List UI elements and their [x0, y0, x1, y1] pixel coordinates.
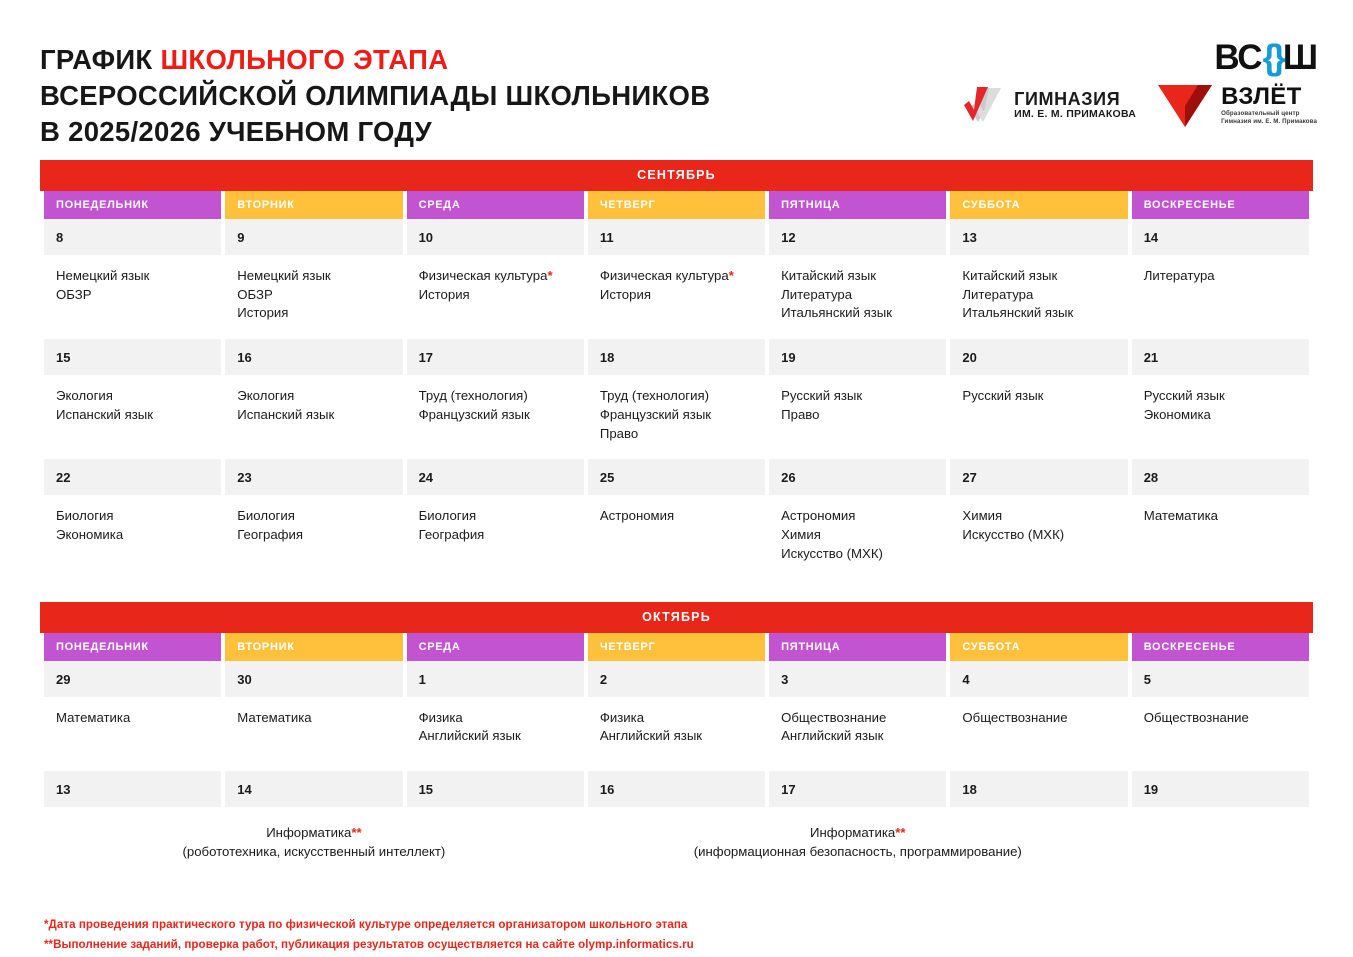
month-block-сентябрь: СЕНТЯБРЬПОНЕДЕЛЬНИКВТОРНИКСРЕДАЧЕТВЕРГПЯ… — [40, 160, 1313, 580]
date-row: 15161718192021 — [44, 339, 1309, 375]
weekday-header-0: ПОНЕДЕЛЬНИК — [44, 633, 221, 661]
checkmark-icon — [963, 85, 1005, 125]
subject-cell: Физическая культура*История — [588, 255, 765, 339]
day-number-cell: 24 — [407, 459, 584, 495]
subject-item: Французский язык — [600, 406, 753, 425]
subject-cell: Физическая культура*История — [407, 255, 584, 339]
gymnasium-logo: ГИМНАЗИЯ ИМ. Е. М. ПРИМАКОВА — [963, 85, 1136, 125]
day-number-cell: 16 — [225, 339, 402, 375]
weekday-header-6: ВОСКРЕСЕНЬЕ — [1132, 191, 1309, 219]
title-block: ГРАФИК ШКОЛЬНОГО ЭТАПА ВСЕРОССИЙСКОЙ ОЛИ… — [40, 38, 710, 149]
subject-cell: Труд (технология)Французский язык — [407, 375, 584, 459]
subject-item: Испанский язык — [237, 406, 390, 425]
subject-cell: Математика — [44, 697, 221, 771]
subject-row: БиологияЭкономикаБиологияГеографияБиолог… — [44, 495, 1309, 579]
subject-item: Право — [781, 406, 934, 425]
subject-detail: (робототехника, искусственный интеллект) — [56, 842, 572, 862]
subject-cell: ФизикаАнглийский язык — [588, 697, 765, 771]
empty-cell — [1132, 807, 1309, 881]
subject-cell: ОбществознаниеАнглийский язык — [769, 697, 946, 771]
subject-cell: Немецкий языкОБЗРИстория — [225, 255, 402, 339]
day-number-cell: 15 — [44, 339, 221, 375]
subject-item: Труд (технология) — [600, 387, 753, 406]
page-title-line-3: В 2025/2026 УЧЕБНОМ ГОДУ — [40, 114, 710, 150]
day-number-cell: 18 — [950, 771, 1127, 807]
subject-cell: Литература — [1132, 255, 1309, 339]
subject-cell: Китайский языкЛитератураИтальянский язык — [769, 255, 946, 339]
footnote-marker: ** — [351, 825, 361, 840]
title-plain: ГРАФИК — [40, 44, 160, 75]
day-number-cell: 9 — [225, 219, 402, 255]
subject-cell: Астрономия — [588, 495, 765, 579]
subject-item: Астрономия — [600, 507, 753, 526]
partner-logo-row: ГИМНАЗИЯ ИМ. Е. М. ПРИМАКОВА ВЗЛЁТ Образ… — [963, 83, 1317, 127]
subject-item: ОБЗР — [237, 286, 390, 305]
day-number-cell: 30 — [225, 661, 402, 697]
subject-item: Экономика — [1144, 406, 1297, 425]
subject-item: Обществознание — [1144, 709, 1297, 728]
subject-item: Экономика — [56, 526, 209, 545]
vsosh-logo-part1: ВС — [1214, 40, 1261, 75]
subject-item: Химия — [781, 526, 934, 545]
subject-item: Китайский язык — [781, 267, 934, 286]
merged-subject-cell: Информатика**(робототехника, искусственн… — [44, 807, 584, 881]
weekday-header-1: ВТОРНИК — [225, 633, 402, 661]
day-number-cell: 4 — [950, 661, 1127, 697]
subject-cell: ЭкологияИспанский язык — [44, 375, 221, 459]
day-number-cell: 12 — [769, 219, 946, 255]
gymnasium-logo-name: ГИМНАЗИЯ — [1014, 90, 1136, 109]
date-row: 22232425262728 — [44, 459, 1309, 495]
weekday-header-4: ПЯТНИЦА — [769, 633, 946, 661]
subject-title: Информатика** — [600, 823, 1116, 843]
subject-item: Астрономия — [781, 507, 934, 526]
subject-row: ЭкологияИспанский языкЭкологияИспанский … — [44, 375, 1309, 459]
subject-cell: БиологияЭкономика — [44, 495, 221, 579]
subject-item: Биология — [419, 507, 572, 526]
vzlyot-v-icon — [1158, 83, 1212, 127]
subject-item: Экология — [237, 387, 390, 406]
day-number-cell: 28 — [1132, 459, 1309, 495]
subject-item: ОБЗР — [56, 286, 209, 305]
day-number-cell: 26 — [769, 459, 946, 495]
subject-cell: ХимияИскусство (МХК) — [950, 495, 1127, 579]
subject-item: История — [600, 286, 753, 305]
subject-item: Биология — [237, 507, 390, 526]
subject-item: Испанский язык — [56, 406, 209, 425]
date-row: 13141516171819 — [44, 771, 1309, 807]
month-title: СЕНТЯБРЬ — [40, 160, 1313, 191]
subject-item: Математика — [56, 709, 209, 728]
footnote-marker: * — [547, 268, 552, 283]
vsosh-logo-brace-icon: {} — [1262, 40, 1283, 75]
subject-cell: БиологияГеография — [407, 495, 584, 579]
date-row: 293012345 — [44, 661, 1309, 697]
subject-item: Математика — [237, 709, 390, 728]
subject-item: География — [419, 526, 572, 545]
day-number-cell: 17 — [769, 771, 946, 807]
subject-item: Физическая культура* — [419, 267, 572, 286]
day-number-cell: 16 — [588, 771, 765, 807]
subject-item: Английский язык — [419, 727, 572, 746]
day-number-cell: 17 — [407, 339, 584, 375]
subject-item: Русский язык — [781, 387, 934, 406]
gymnasium-logo-subtitle: ИМ. Е. М. ПРИМАКОВА — [1014, 109, 1136, 120]
vzlyot-logo-subtitle-2: Гимназия им. Е. М. Примакова — [1221, 118, 1317, 126]
day-number-cell: 14 — [225, 771, 402, 807]
vsosh-logo-row: ВС{}Ш — [963, 40, 1317, 75]
day-number-cell: 29 — [44, 661, 221, 697]
subject-item: Немецкий язык — [56, 267, 209, 286]
day-number-cell: 11 — [588, 219, 765, 255]
subject-item: Итальянский язык — [781, 304, 934, 323]
subject-item: Труд (технология) — [419, 387, 572, 406]
subject-cell: АстрономияХимияИскусство (МХК) — [769, 495, 946, 579]
footnote-2: **Выполнение заданий, проверка работ, пу… — [44, 935, 1313, 955]
subject-cell: Русский язык — [950, 375, 1127, 459]
month-title: ОКТЯБРЬ — [40, 602, 1313, 633]
weekday-header-6: ВОСКРЕСЕНЬЕ — [1132, 633, 1309, 661]
month-block-октябрь: ОКТЯБРЬПОНЕДЕЛЬНИКВТОРНИКСРЕДАЧЕТВЕРГПЯТ… — [40, 602, 1313, 881]
title-accent: ШКОЛЬНОГО ЭТАПА — [160, 44, 448, 75]
page-title-line-2: ВСЕРОССИЙСКОЙ ОЛИМПИАДЫ ШКОЛЬНИКОВ — [40, 78, 710, 114]
subject-item: Итальянский язык — [962, 304, 1115, 323]
weekday-header-4: ПЯТНИЦА — [769, 191, 946, 219]
vsosh-logo-part2: Ш — [1283, 40, 1317, 75]
subject-item: Литература — [781, 286, 934, 305]
subject-cell: Математика — [225, 697, 402, 771]
subject-item: Французский язык — [419, 406, 572, 425]
weekday-header-5: СУББОТА — [950, 633, 1127, 661]
subject-cell: БиологияГеография — [225, 495, 402, 579]
footnote-marker: ** — [895, 825, 905, 840]
footnote-1: *Дата проведения практического тура по ф… — [44, 915, 1313, 935]
vzlyot-logo-subtitle-1: Образовательный центр — [1221, 110, 1317, 118]
vzlyot-logo-name: ВЗЛЁТ — [1221, 84, 1317, 109]
subject-item: Биология — [56, 507, 209, 526]
weekday-header-0: ПОНЕДЕЛЬНИК — [44, 191, 221, 219]
vsosh-logo: ВС{}Ш — [1214, 40, 1317, 75]
subject-item: Русский язык — [1144, 387, 1297, 406]
subject-item: Химия — [962, 507, 1115, 526]
subject-title: Информатика** — [56, 823, 572, 843]
day-number-cell: 10 — [407, 219, 584, 255]
subject-cell: Русский языкЭкономика — [1132, 375, 1309, 459]
subject-cell: Немецкий языкОБЗР — [44, 255, 221, 339]
subject-item: Обществознание — [781, 709, 934, 728]
weekday-header-5: СУББОТА — [950, 191, 1127, 219]
subject-cell: Обществознание — [950, 697, 1127, 771]
subject-item: Право — [600, 425, 753, 444]
subject-item: Экология — [56, 387, 209, 406]
weekday-header-2: СРЕДА — [407, 191, 584, 219]
subject-item: Литература — [962, 286, 1115, 305]
date-row: 891011121314 — [44, 219, 1309, 255]
subject-cell: Русский языкПраво — [769, 375, 946, 459]
subject-item: Математика — [1144, 507, 1297, 526]
day-number-cell: 19 — [769, 339, 946, 375]
weekday-header-1: ВТОРНИК — [225, 191, 402, 219]
month-grid: ПОНЕДЕЛЬНИКВТОРНИКСРЕДАЧЕТВЕРГПЯТНИЦАСУБ… — [40, 191, 1313, 580]
subject-item: Английский язык — [781, 727, 934, 746]
subject-item: Физическая культура* — [600, 267, 753, 286]
page-header: ГРАФИК ШКОЛЬНОГО ЭТАПА ВСЕРОССИЙСКОЙ ОЛИ… — [0, 0, 1353, 160]
day-number-cell: 23 — [225, 459, 402, 495]
page-title-line-1: ГРАФИК ШКОЛЬНОГО ЭТАПА — [40, 42, 710, 78]
subject-detail: (информационная безопасность, программир… — [600, 842, 1116, 862]
subject-row: Немецкий языкОБЗРНемецкий языкОБЗРИстори… — [44, 255, 1309, 339]
subject-item: Искусство (МХК) — [781, 545, 934, 564]
vzlyot-logo-text: ВЗЛЁТ Образовательный центр Гимназия им.… — [1221, 84, 1317, 125]
subject-cell: Математика — [1132, 495, 1309, 579]
subject-row: МатематикаМатематикаФизикаАнглийский язы… — [44, 697, 1309, 771]
subject-cell: ФизикаАнглийский язык — [407, 697, 584, 771]
subject-item: История — [237, 304, 390, 323]
subject-item: Искусство (МХК) — [962, 526, 1115, 545]
day-number-cell: 22 — [44, 459, 221, 495]
day-number-cell: 3 — [769, 661, 946, 697]
subject-item: Английский язык — [600, 727, 753, 746]
merged-subject-cell: Информатика**(информационная безопасност… — [588, 807, 1128, 881]
day-number-cell: 8 — [44, 219, 221, 255]
day-number-cell: 13 — [950, 219, 1127, 255]
day-number-cell: 13 — [44, 771, 221, 807]
calendar: СЕНТЯБРЬПОНЕДЕЛЬНИКВТОРНИКСРЕДАЧЕТВЕРГПЯ… — [0, 160, 1353, 881]
weekday-header-row: ПОНЕДЕЛЬНИКВТОРНИКСРЕДАЧЕТВЕРГПЯТНИЦАСУБ… — [44, 191, 1309, 219]
subject-row: Информатика**(робототехника, искусственн… — [44, 807, 1309, 881]
logo-group: ВС{}Ш ГИМНАЗИЯ ИМ. Е. М. ПРИМАКОВА — [963, 38, 1317, 127]
subject-item: География — [237, 526, 390, 545]
day-number-cell: 18 — [588, 339, 765, 375]
day-number-cell: 20 — [950, 339, 1127, 375]
subject-item: Китайский язык — [962, 267, 1115, 286]
subject-cell: Китайский языкЛитератураИтальянский язык — [950, 255, 1127, 339]
vzlyot-logo: ВЗЛЁТ Образовательный центр Гимназия им.… — [1158, 83, 1317, 127]
day-number-cell: 27 — [950, 459, 1127, 495]
subject-item: История — [419, 286, 572, 305]
month-grid: ПОНЕДЕЛЬНИКВТОРНИКСРЕДАЧЕТВЕРГПЯТНИЦАСУБ… — [40, 633, 1313, 881]
day-number-cell: 21 — [1132, 339, 1309, 375]
day-number-cell: 15 — [407, 771, 584, 807]
weekday-header-row: ПОНЕДЕЛЬНИКВТОРНИКСРЕДАЧЕТВЕРГПЯТНИЦАСУБ… — [44, 633, 1309, 661]
subject-cell: Труд (технология)Французский языкПраво — [588, 375, 765, 459]
day-number-cell: 5 — [1132, 661, 1309, 697]
weekday-header-2: СРЕДА — [407, 633, 584, 661]
day-number-cell: 25 — [588, 459, 765, 495]
day-number-cell: 1 — [407, 661, 584, 697]
subject-item: Физика — [419, 709, 572, 728]
subject-item: Физика — [600, 709, 753, 728]
subject-item: Немецкий язык — [237, 267, 390, 286]
day-number-cell: 2 — [588, 661, 765, 697]
subject-item: Обществознание — [962, 709, 1115, 728]
day-number-cell: 14 — [1132, 219, 1309, 255]
weekday-header-3: ЧЕТВЕРГ — [588, 191, 765, 219]
infographic-page: ГРАФИК ШКОЛЬНОГО ЭТАПА ВСЕРОССИЙСКОЙ ОЛИ… — [0, 0, 1353, 957]
footnote-marker: * — [729, 268, 734, 283]
subject-item: Литература — [1144, 267, 1297, 286]
day-number-cell: 19 — [1132, 771, 1309, 807]
gymnasium-logo-text: ГИМНАЗИЯ ИМ. Е. М. ПРИМАКОВА — [1014, 90, 1136, 120]
subject-cell: ЭкологияИспанский язык — [225, 375, 402, 459]
weekday-header-3: ЧЕТВЕРГ — [588, 633, 765, 661]
subject-cell: Обществознание — [1132, 697, 1309, 771]
subject-item: Русский язык — [962, 387, 1115, 406]
footnotes: *Дата проведения практического тура по ф… — [0, 903, 1353, 956]
